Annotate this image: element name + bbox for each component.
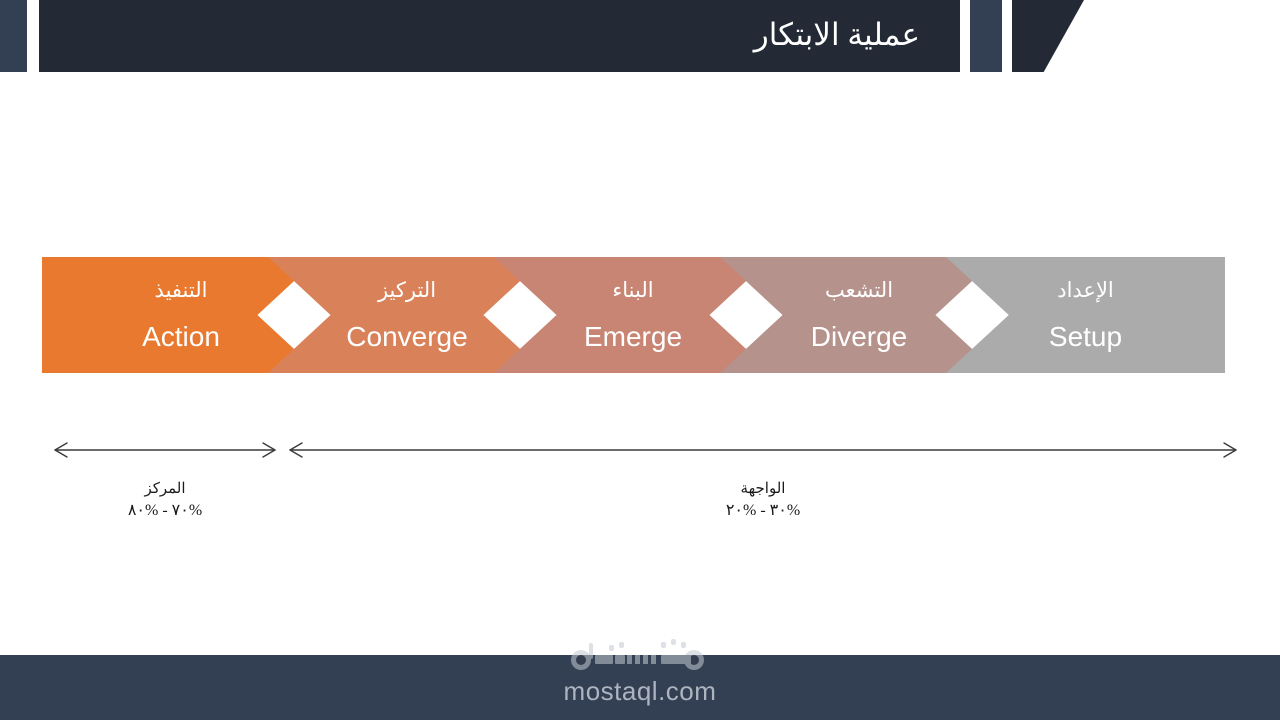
- measure-percent-front: %٣٠ - %٢٠: [613, 500, 913, 521]
- stage-label-en: Converge: [346, 323, 467, 351]
- measure-label-center: المركز %٧٠ - %٨٠: [15, 480, 315, 521]
- header-wedge-shape: [1012, 0, 1084, 72]
- stage-label-ar: التشعب: [825, 280, 893, 301]
- stage-label-en: Action: [142, 323, 220, 351]
- process-stage-emerge[interactable]: البناء Emerge: [494, 257, 772, 373]
- stage-label-ar: التنفيذ: [155, 280, 208, 301]
- measure-percent-center: %٧٠ - %٨٠: [15, 500, 315, 521]
- stage-label-ar: التركيز: [378, 280, 436, 301]
- process-stage-diverge[interactable]: التشعب Diverge: [720, 257, 998, 373]
- stage-label-ar: الإعداد: [1057, 280, 1114, 301]
- process-stage-setup[interactable]: الإعداد Setup: [946, 257, 1225, 373]
- footer-band: [0, 655, 1280, 720]
- stage-label-en: Emerge: [584, 323, 682, 351]
- process-stage-action[interactable]: التنفيذ Action: [42, 257, 320, 373]
- header-bar: عملية الابتكار: [39, 0, 960, 72]
- process-stage-converge[interactable]: التركيز Converge: [268, 257, 546, 373]
- stage-label-en: Diverge: [811, 323, 907, 351]
- measure-name-center: المركز: [15, 480, 315, 500]
- measure-layer: المركز %٧٠ - %٨٠ الواجهة %٣٠ - %٢٠: [0, 420, 1280, 550]
- measure-name-front: الواجهة: [613, 480, 913, 500]
- measure-label-front: الواجهة %٣٠ - %٢٠: [613, 480, 913, 521]
- process-chevron-band: التنفيذ Action التركيز Converge البناء E…: [0, 257, 1280, 373]
- stage-label-ar: البناء: [612, 280, 653, 301]
- header-band: عملية الابتكار: [0, 0, 1280, 72]
- stage-label-en: Setup: [1049, 323, 1122, 351]
- page-title: عملية الابتكار: [754, 0, 920, 72]
- header-accent-left: [0, 0, 27, 72]
- header-accent-right: [970, 0, 1002, 72]
